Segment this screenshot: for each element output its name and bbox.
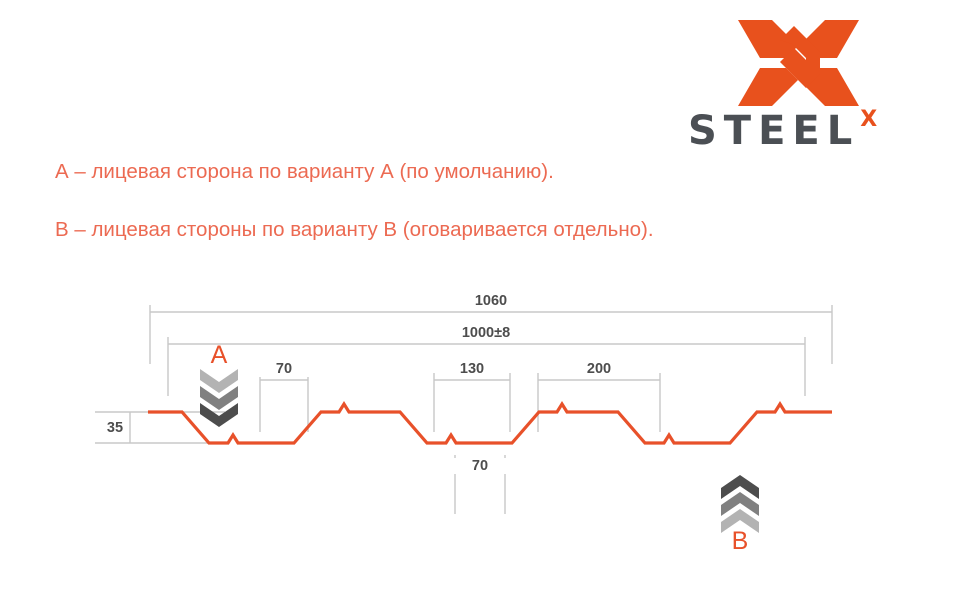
- marker-a: А: [200, 341, 238, 427]
- profile-outline-layer: [148, 404, 832, 443]
- dimension-label: 70: [472, 458, 488, 474]
- dimension-crest-width: 70: [258, 361, 310, 432]
- dimension-label: 200: [587, 361, 611, 377]
- dimension-label: 130: [460, 361, 484, 377]
- dimension-label: 1060: [475, 293, 507, 309]
- dimension-label: 70: [276, 361, 292, 377]
- dimension-valley-width: 70: [454, 455, 506, 514]
- dimension-label: 1000±8: [462, 325, 510, 341]
- marker-a-label: А: [211, 341, 228, 369]
- dimension-layer: 10601000±8701302007035: [95, 293, 832, 514]
- dimension-label: 35: [107, 420, 123, 436]
- dimension-wave-pitch: 200: [538, 361, 660, 432]
- corrugated-profile-path: [148, 404, 832, 443]
- chevron-icon: [200, 369, 238, 393]
- dimension-useful-width: 1000±8: [168, 325, 805, 396]
- marker-b-label: В: [732, 527, 749, 555]
- marker-b: В: [721, 475, 759, 555]
- dimension-rib-pitch: 130: [434, 361, 510, 432]
- profile-technical-drawing: 10601000±8701302007035 АВ: [0, 0, 970, 597]
